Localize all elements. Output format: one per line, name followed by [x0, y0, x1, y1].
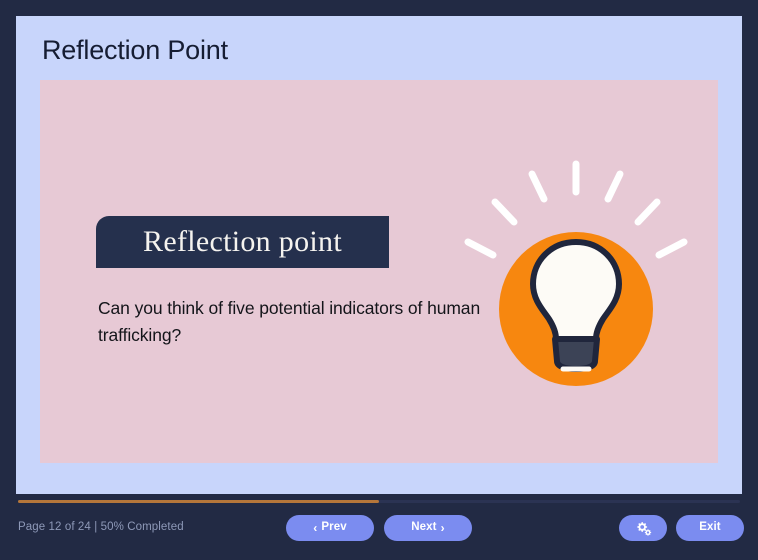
gears-icon: [635, 521, 652, 536]
bulb-base: [555, 339, 597, 369]
slide-navigation-group: ‹ Prev Next ›: [286, 515, 472, 541]
reflection-point-badge-label: Reflection point: [143, 227, 342, 257]
slide-canvas: Reflection point Can you think of five p…: [40, 80, 718, 463]
footer-navigation-bar: Page 12 of 24 | 50% Completed ‹ Prev Nex…: [0, 506, 758, 560]
progress-bar-track: [18, 500, 740, 503]
prev-button-label: Prev: [321, 522, 346, 534]
page-title: Reflection Point: [42, 34, 228, 66]
progress-bar-fill: [18, 500, 379, 503]
exit-button[interactable]: Exit: [676, 515, 744, 541]
slide-viewport: Reflection Point Reflection point Can yo…: [16, 16, 742, 494]
lightbulb-icon: [452, 156, 700, 386]
prev-button[interactable]: ‹ Prev: [286, 515, 374, 541]
chevron-right-icon: ›: [441, 522, 445, 534]
next-button[interactable]: Next ›: [384, 515, 472, 541]
next-button-label: Next: [411, 522, 436, 534]
reflection-point-badge: Reflection point: [96, 216, 389, 268]
reflection-question-text: Can you think of five potential indicato…: [98, 295, 498, 349]
exit-button-label: Exit: [699, 522, 721, 534]
chevron-left-icon: ‹: [313, 522, 317, 534]
footer-actions-group: Exit: [619, 515, 744, 541]
progress-status-text: Page 12 of 24 | 50% Completed: [18, 521, 184, 533]
app-shell: Reflection Point Reflection point Can yo…: [0, 0, 758, 560]
settings-button[interactable]: [619, 515, 667, 541]
